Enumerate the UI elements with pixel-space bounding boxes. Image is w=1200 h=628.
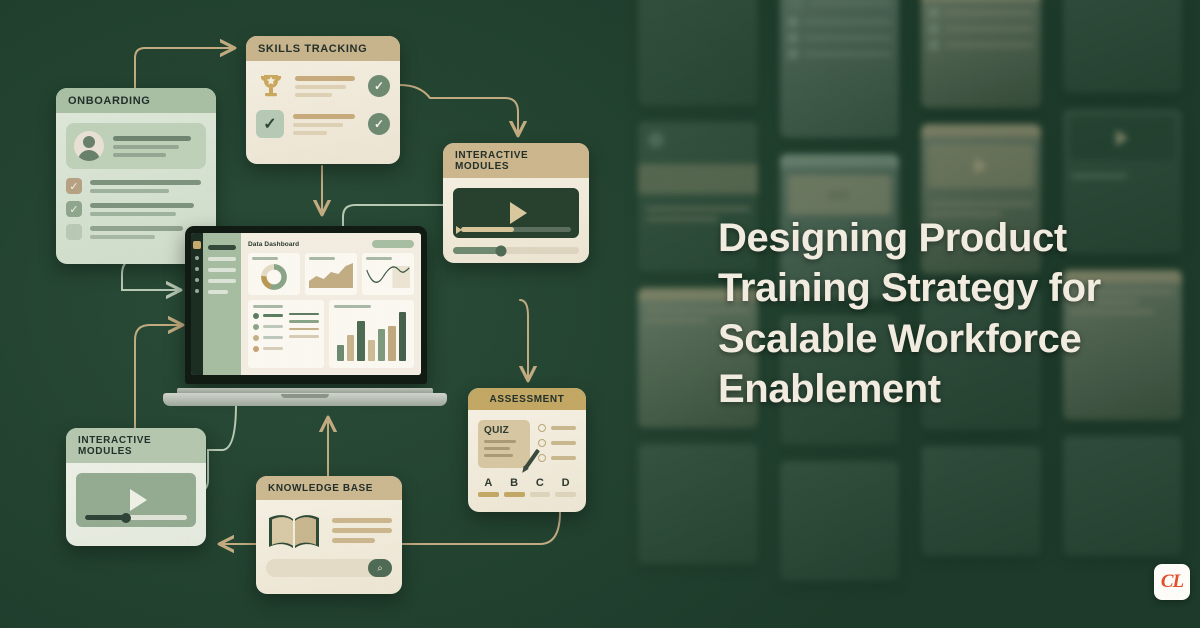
list-item[interactable]	[538, 454, 576, 462]
card-skills-tracking[interactable]: SKILLS TRACKING	[246, 36, 400, 164]
title-line-3: Scalable Workforce	[718, 314, 1168, 364]
dashboard-screen[interactable]: Data Dashboard	[191, 233, 421, 375]
knowledge-base-row	[266, 510, 392, 550]
logo-monogram: CL	[1161, 571, 1183, 593]
dashboard-main: Data Dashboard	[241, 233, 421, 375]
list-item[interactable]: ✓	[66, 178, 206, 194]
card-knowledge-base[interactable]: KNOWLEDGE BASE ⌕	[256, 476, 402, 594]
card-onboarding-title: ONBOARDING	[56, 88, 216, 113]
answer-option-c[interactable]: C	[530, 477, 551, 497]
dashboard-action-button[interactable]	[372, 240, 414, 248]
open-book-icon	[266, 510, 322, 550]
profile-lines	[113, 136, 198, 157]
bg-thumb-panel	[1063, 0, 1183, 93]
list-item[interactable]	[538, 424, 576, 432]
trophy-icon	[256, 71, 286, 101]
radio-icon[interactable]	[538, 454, 546, 462]
list-widget[interactable]	[248, 300, 324, 368]
card-assessment[interactable]: ASSESSMENT QUIZ A B C	[468, 388, 586, 512]
play-icon[interactable]	[510, 202, 527, 224]
answer-option-b[interactable]: B	[504, 477, 525, 497]
bg-thumb-panel	[638, 444, 758, 564]
bg-thumb-onboarding	[780, 0, 900, 138]
quiz-row: QUIZ	[478, 420, 576, 468]
video-progress-bar[interactable]	[85, 515, 187, 520]
line-chart-widget[interactable]	[362, 253, 414, 295]
search-icon[interactable]: ⌕	[368, 559, 392, 577]
sidebar-item[interactable]	[208, 268, 236, 272]
play-icon[interactable]	[130, 489, 147, 511]
video-player[interactable]	[76, 473, 196, 527]
list-item[interactable]	[538, 439, 576, 447]
knowledge-base-lines	[332, 518, 392, 543]
rail-dot-icon[interactable]	[195, 256, 199, 260]
list-item[interactable]	[289, 328, 319, 331]
dashboard-sidebar[interactable]	[203, 233, 241, 375]
checkbox-empty-icon[interactable]	[66, 224, 82, 240]
card-interactive-modules-bottom-body	[66, 463, 206, 537]
video-progress-bar[interactable]	[461, 227, 571, 232]
rail-dot-icon[interactable]	[195, 289, 199, 293]
dashboard-title: Data Dashboard	[248, 241, 299, 248]
laptop-mockup: Data Dashboard	[163, 226, 447, 406]
title-line-1: Designing Product	[718, 213, 1168, 263]
bg-thumb-panel	[638, 0, 758, 106]
sidebar-item[interactable]	[208, 279, 236, 283]
laptop-base	[163, 393, 447, 406]
checkmark-icon: ✓	[256, 110, 284, 138]
area-chart-widget[interactable]	[305, 253, 357, 295]
card-assessment-body: QUIZ A B C D	[468, 410, 586, 507]
laptop-screen-lid: Data Dashboard	[185, 226, 427, 384]
brand-logo[interactable]: CL	[1154, 564, 1190, 600]
list-item[interactable]	[253, 324, 283, 330]
radio-icon[interactable]	[538, 424, 546, 432]
card-interactive-modules-top-body	[443, 178, 589, 263]
card-knowledge-base-title: KNOWLEDGE BASE	[256, 476, 402, 500]
sidebar-item[interactable]	[208, 257, 236, 261]
list-item[interactable]: ✓	[66, 201, 206, 217]
bg-thumb-panel	[1063, 436, 1183, 556]
title-line-2: Training Strategy for	[718, 263, 1168, 313]
sidebar-item[interactable]	[208, 290, 228, 294]
quiz-options[interactable]	[538, 420, 576, 468]
card-interactive-modules-bottom[interactable]: INTERACTIVE MODULES	[66, 428, 206, 546]
page-title: Designing Product Training Strategy for …	[718, 213, 1168, 415]
widget-row-bottom	[248, 300, 414, 368]
rail-dot-icon[interactable]	[195, 278, 199, 282]
card-interactive-modules-top-title: INTERACTIVE MODULES	[443, 143, 589, 178]
list-item[interactable]	[289, 335, 319, 338]
list-item[interactable]	[253, 313, 283, 319]
dashboard-header: Data Dashboard	[248, 240, 414, 248]
card-knowledge-base-body: ⌕	[256, 500, 402, 587]
card-assessment-title: ASSESSMENT	[468, 388, 586, 410]
answer-option-a[interactable]: A	[478, 477, 499, 497]
checkbox-checked-icon[interactable]: ✓	[66, 178, 82, 194]
search-input[interactable]: ⌕	[266, 559, 392, 577]
bar-chart-bars	[334, 308, 409, 364]
list-item[interactable]	[289, 313, 319, 316]
donut-chart-widget[interactable]	[248, 253, 300, 295]
list-item[interactable]	[253, 335, 283, 341]
radio-icon[interactable]	[538, 439, 546, 447]
card-skills-tracking-title: SKILLS TRACKING	[246, 36, 400, 61]
card-interactive-modules-bottom-title: INTERACTIVE MODULES	[66, 428, 206, 463]
status-check-icon: ✓	[368, 75, 390, 97]
app-rail[interactable]	[191, 233, 203, 375]
quiz-paper: QUIZ	[478, 420, 530, 468]
checkbox-checked-icon[interactable]: ✓	[66, 201, 82, 217]
poster-canvas: QUIZ	[0, 0, 1200, 628]
bar-chart-widget[interactable]	[329, 300, 414, 368]
quiz-label: QUIZ	[484, 425, 524, 436]
list-item[interactable]	[253, 346, 283, 352]
volume-slider[interactable]	[453, 247, 579, 254]
card-skills-tracking-body: ✓ ✓ ✓	[246, 61, 400, 157]
title-line-4: Enablement	[718, 364, 1168, 414]
rail-dot-icon[interactable]	[195, 267, 199, 271]
card-interactive-modules-top[interactable]: INTERACTIVE MODULES	[443, 143, 589, 263]
list-item[interactable]	[289, 320, 319, 323]
widget-row-top	[248, 253, 414, 295]
profile-row	[66, 123, 206, 169]
status-check-icon: ✓	[368, 113, 390, 135]
bg-thumb-checklist-tan	[921, 0, 1041, 108]
answer-choices[interactable]: A B C D	[478, 477, 576, 497]
app-logo-icon	[193, 241, 201, 249]
skill-row: ✓	[256, 71, 390, 101]
video-player[interactable]	[453, 188, 579, 238]
bg-thumb-panel	[921, 446, 1041, 556]
skill-row: ✓ ✓	[256, 110, 390, 138]
bg-thumb-panel	[780, 461, 900, 581]
answer-option-d[interactable]: D	[555, 477, 576, 497]
avatar	[74, 131, 104, 161]
